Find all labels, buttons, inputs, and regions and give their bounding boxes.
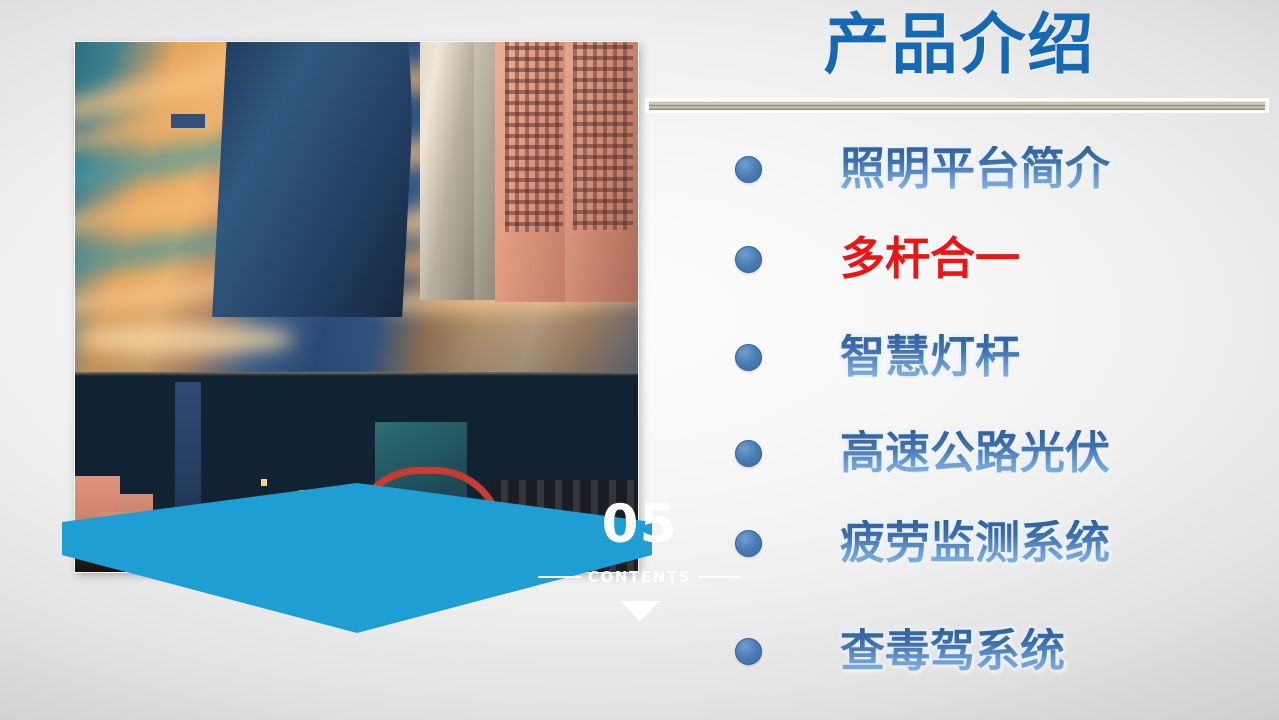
circle-bullet-icon [735, 156, 762, 183]
list-item-label: 疲劳监测系统 [840, 520, 1110, 565]
slide-canvas: 05 CONTENTS 产品介绍 照明平台简介 多杆合一 智慧灯杆 高速公路光伏 [0, 0, 1279, 720]
list-item[interactable]: 高速公路光伏 [640, 420, 1279, 516]
circle-bullet-icon [735, 440, 762, 467]
list-item[interactable]: 照明平台简介 [640, 128, 1279, 224]
sky-city-blend [75, 372, 638, 376]
page-title: 产品介绍 [640, 4, 1279, 87]
list-item-label: 照明平台简介 [840, 146, 1110, 191]
list-item[interactable]: 多杆合一 [640, 224, 1279, 320]
list-item-label: 智慧灯杆 [840, 334, 1020, 379]
list-item-label: 多杆合一 [840, 236, 1020, 281]
bullet-list: 照明平台简介 多杆合一 智慧灯杆 高速公路光伏 疲劳监测系统 查毒驾系统 [640, 128, 1279, 708]
rule-left [538, 576, 581, 578]
list-item-label: 查毒驾系统 [840, 628, 1065, 673]
list-item[interactable]: 疲劳监测系统 [640, 516, 1279, 612]
circle-bullet-icon [735, 246, 762, 273]
circle-bullet-icon [735, 638, 762, 665]
circle-bullet-icon [735, 530, 762, 557]
title-divider [646, 99, 1268, 112]
circle-bullet-icon [735, 344, 762, 371]
list-item-label: 高速公路光伏 [840, 430, 1110, 475]
list-item[interactable]: 智慧灯杆 [640, 320, 1279, 420]
divider-inner-bar [649, 101, 1265, 110]
list-item[interactable]: 查毒驾系统 [640, 612, 1279, 708]
